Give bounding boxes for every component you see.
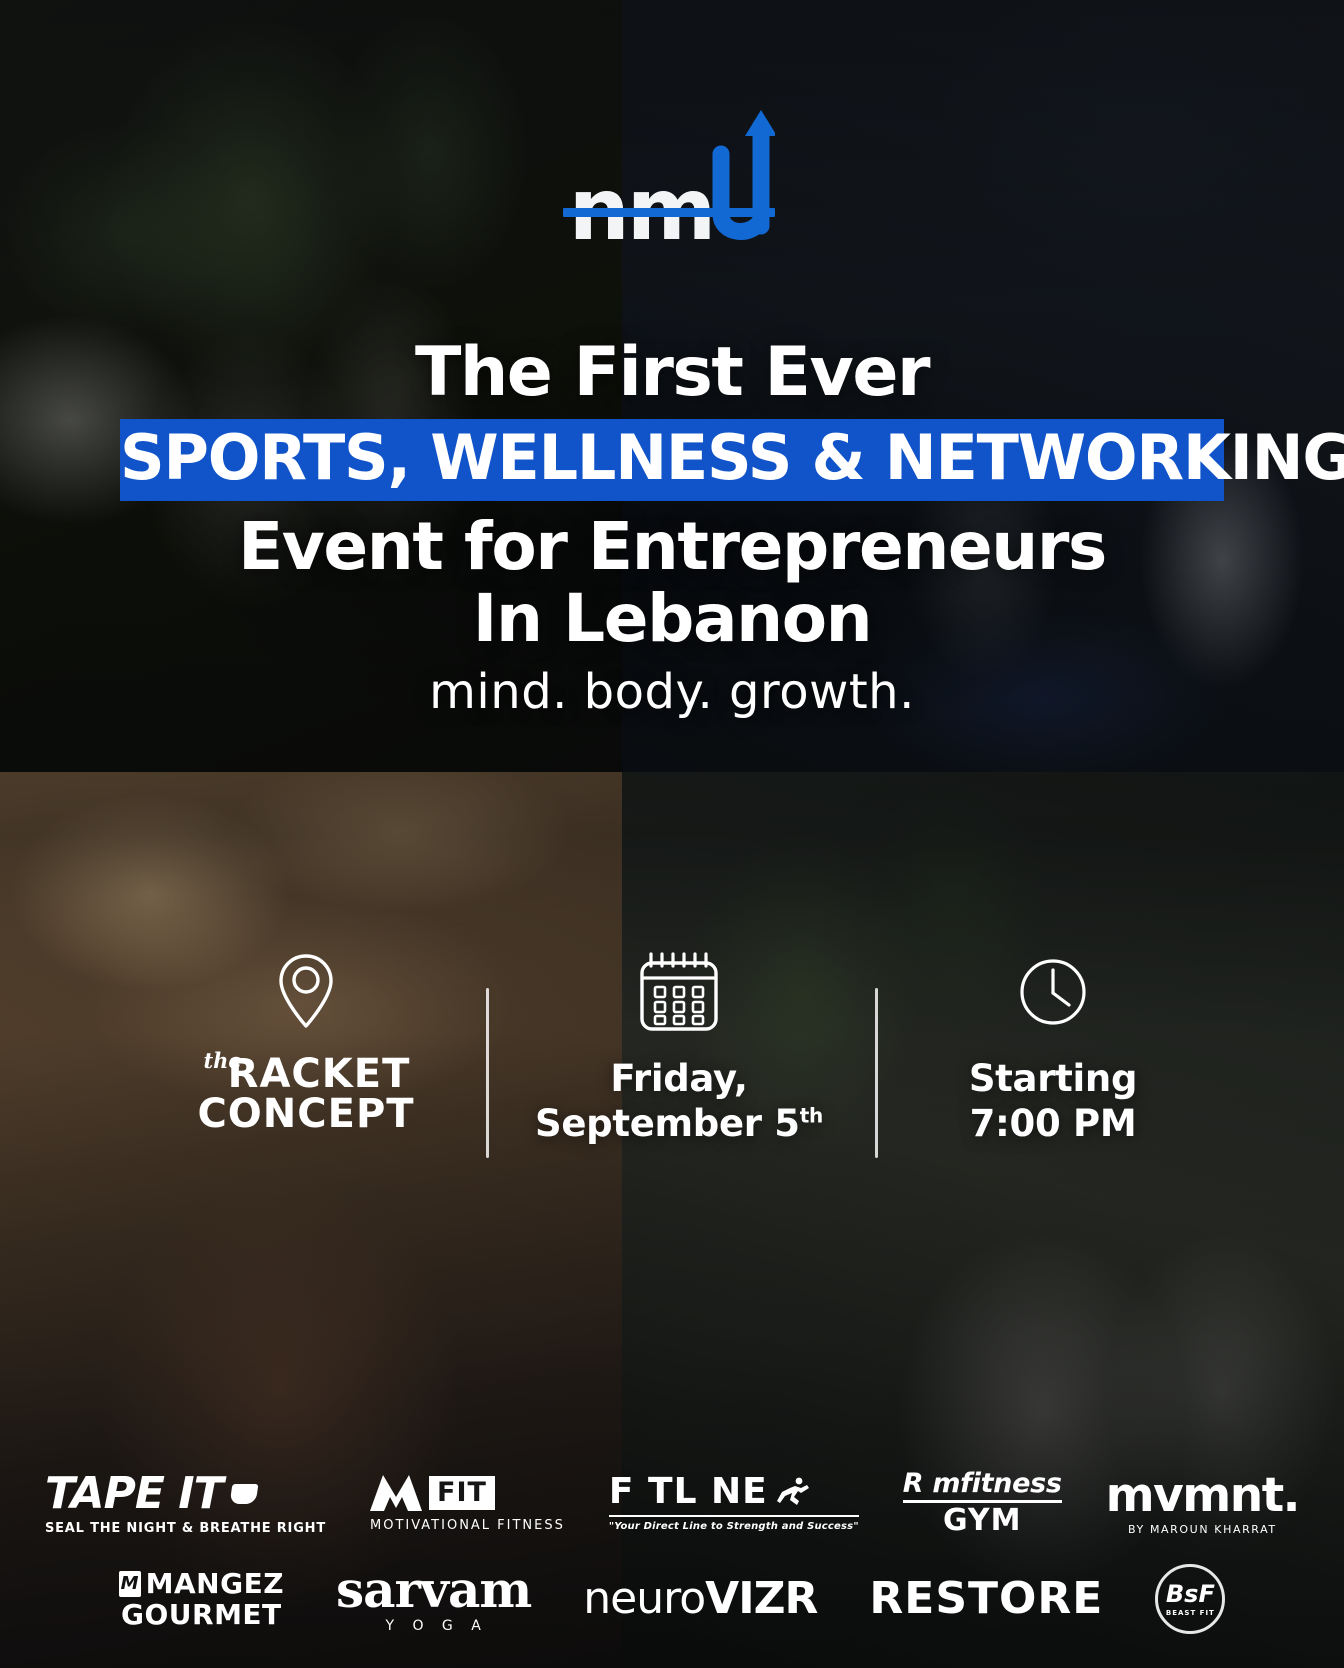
sponsor-sarvam-yoga: sarvam Y O G A (336, 1565, 531, 1633)
headline-banner-text: SPORTS, WELLNESS & NETWORKING (120, 427, 1224, 489)
sponsor-tape-it-tagline: SEAL THE NIGHT & BREATHE RIGHT (45, 1522, 326, 1535)
sponsor-neurovizr-name-a: neuro (583, 1577, 705, 1621)
date-line-2: September 5th (535, 1101, 823, 1146)
sponsor-row-2: M MANGEZ GOURMET sarvam Y O G A neuroVIZ… (119, 1564, 1226, 1634)
logo-u-arrow-icon (709, 150, 775, 246)
calendar-icon (634, 950, 724, 1034)
m-monogram-icon (370, 1475, 422, 1511)
date-month-day: September 5 (535, 1102, 800, 1145)
sponsor-mvmnt: mvmnt. BY MAROUN KHARRAT (1106, 1472, 1299, 1535)
headline-line-3: Event for Entrepreneurs (0, 511, 1344, 582)
tape-strip-icon (229, 1484, 258, 1504)
event-poster: nm The First Ever SPORTS, WELLNESS & NET… (0, 0, 1344, 1668)
venue-logo-lockup: the RACKET CONCEPT (197, 1054, 414, 1134)
fitline-rule (609, 1515, 859, 1517)
sponsor-neurovizr-name-b: VIZR (705, 1577, 817, 1621)
sponsor-romfitness-name: R mfitness (903, 1470, 1062, 1497)
sponsor-mangez-name-line-2: GOURMET (119, 1601, 284, 1629)
venue-name-line-2: CONCEPT (197, 1094, 414, 1134)
sponsor-sarvam-tagline: Y O G A (336, 1619, 531, 1633)
beast-fit-badge-icon: BsF BEAST FIT (1155, 1564, 1225, 1634)
venue-script-word: the (203, 1050, 241, 1071)
sponsor-mvmnt-tagline: BY MAROUN KHARRAT (1106, 1524, 1299, 1535)
headline-line-4: In Lebanon (0, 583, 1344, 654)
sponsor-romfitness-tagline: GYM (903, 1506, 1062, 1536)
date-text: Friday, September 5th (535, 1056, 823, 1146)
sponsor-mangez-name-line-1: MANGEZ (146, 1570, 284, 1598)
time-text: Starting 7:00 PM (969, 1056, 1137, 1146)
sponsor-mangez-gourmet: M MANGEZ GOURMET (119, 1570, 284, 1629)
sponsor-mvmnt-name: mvmnt. (1106, 1472, 1299, 1519)
sponsor-fitline-name: F TL NE (609, 1474, 768, 1510)
time-line-1: Starting (969, 1056, 1137, 1101)
sponsor-beast-fit: BsF BEAST FIT (1155, 1564, 1225, 1634)
sponsor-fitline: F TL NE "Your Direct Line to Strength an… (609, 1474, 859, 1532)
headline-highlight-banner: SPORTS, WELLNESS & NETWORKING (120, 419, 1224, 501)
headline-tagline: mind. body. growth. (0, 668, 1344, 716)
sponsor-beast-fit-tagline: BEAST FIT (1166, 1610, 1215, 1617)
sponsor-romfitness: R mfitness GYM (903, 1470, 1062, 1536)
sponsor-m-fit-name: FIT (429, 1476, 495, 1510)
sponsor-m-fit-tagline: MOTIVATIONAL FITNESS (370, 1519, 565, 1532)
detail-divider-2 (875, 988, 878, 1158)
runner-icon (777, 1477, 811, 1507)
clock-icon (1015, 950, 1091, 1034)
sponsor-tape-it: TAPE IT SEAL THE NIGHT & BREATHE RIGHT (45, 1472, 326, 1535)
mangez-monogram-icon: M (119, 1571, 141, 1597)
time-line-2: 7:00 PM (969, 1101, 1137, 1146)
sponsor-m-fit: FIT MOTIVATIONAL FITNESS (370, 1475, 565, 1532)
sponsor-beast-fit-name: BsF (1166, 1582, 1215, 1606)
headline-line-1: The First Ever (0, 338, 1344, 407)
detail-date: Friday, September 5th (489, 950, 869, 1146)
sponsor-sarvam-name: sarvam (336, 1565, 531, 1615)
sponsor-restore: RESTORE (869, 1577, 1103, 1621)
date-line-1: Friday, (535, 1056, 823, 1101)
date-ordinal-suffix: th (800, 1104, 823, 1128)
headline-block: The First Ever SPORTS, WELLNESS & NETWOR… (0, 338, 1344, 716)
sponsor-logos: TAPE IT SEAL THE NIGHT & BREATHE RIGHT F… (0, 1470, 1344, 1634)
detail-time: Starting 7:00 PM (888, 950, 1218, 1146)
sponsor-neurovizr: neuroVIZR (583, 1577, 817, 1621)
sponsor-fitline-tagline: "Your Direct Line to Strength and Succes… (609, 1522, 859, 1532)
detail-venue: the RACKET CONCEPT (126, 950, 486, 1134)
location-pin-icon (274, 950, 338, 1034)
event-details-row: the RACKET CONCEPT (0, 950, 1344, 1158)
sponsor-tape-it-name: TAPE IT (45, 1472, 223, 1516)
brand-logo: nm (0, 150, 1344, 246)
sponsor-restore-name: RESTORE (869, 1577, 1103, 1621)
sponsor-row-1: TAPE IT SEAL THE NIGHT & BREATHE RIGHT F… (45, 1470, 1299, 1536)
